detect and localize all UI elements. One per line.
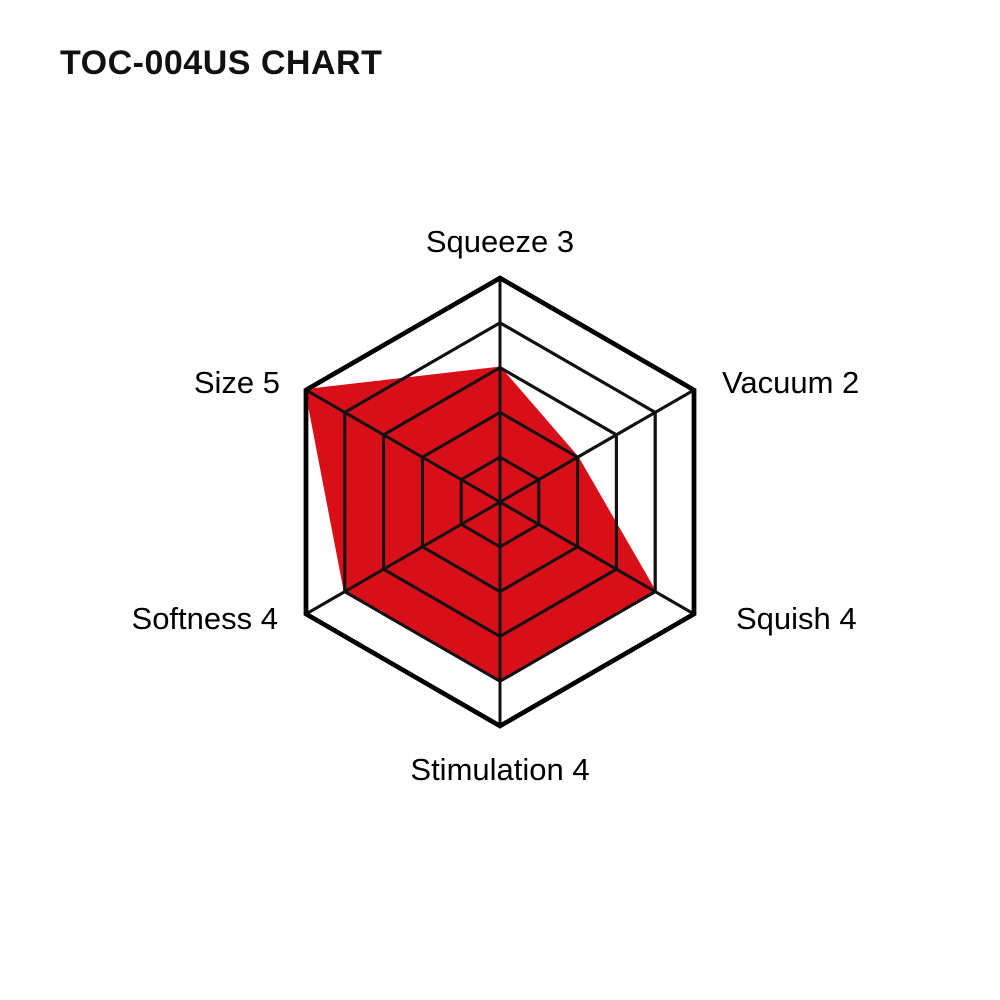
axis-label-vacuum: Vacuum 2 [722,365,859,401]
radar-chart-figure [0,0,1000,1000]
axis-label-stimulation: Stimulation 4 [410,752,589,788]
axis-label-squeeze: Squeeze 3 [426,224,574,260]
axis-label-squish: Squish 4 [736,601,857,637]
axis-label-softness: Softness 4 [132,601,278,637]
chart-page: TOC-004US CHART [0,0,1000,1000]
axis-label-size: Size 5 [194,365,280,401]
